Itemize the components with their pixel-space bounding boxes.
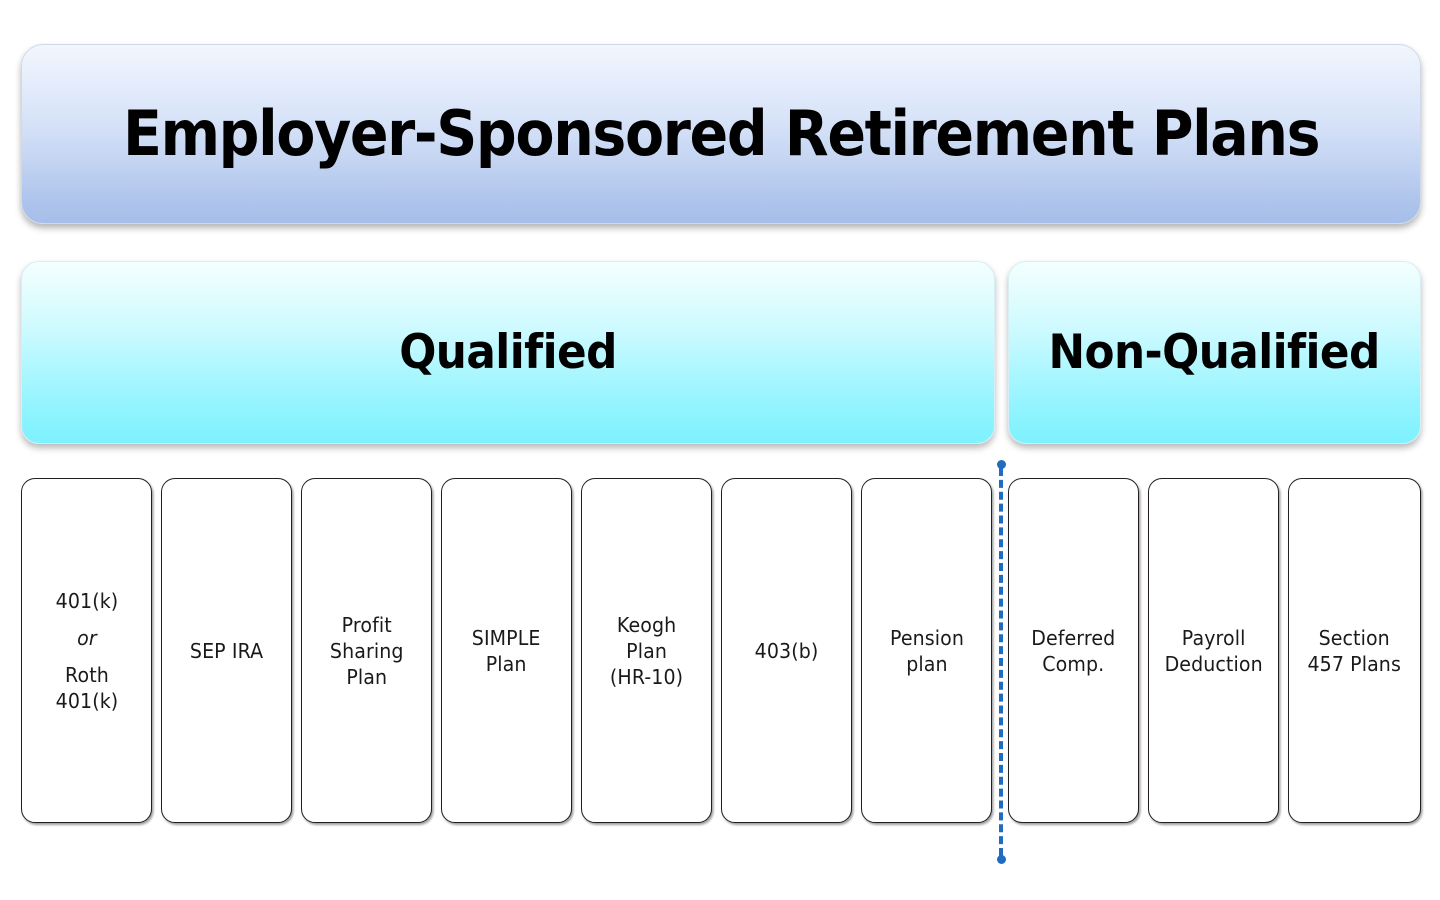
plan-label: Section457 Plans <box>1304 625 1405 677</box>
plan-label: SIMPLEPlan <box>468 625 544 677</box>
plan-label-line: Roth <box>55 662 118 688</box>
plan-label-line: Deferred <box>1031 625 1115 651</box>
plan-pension[interactable]: Pensionplan <box>861 478 992 823</box>
plan-keogh[interactable]: KeoghPlan(HR-10) <box>581 478 712 823</box>
plan-label-spacer <box>55 614 118 625</box>
plan-label-line: 401(k) <box>55 588 118 614</box>
plan-profit-sharing[interactable]: ProfitSharingPlan <box>301 478 432 823</box>
plan-label-line: Plan <box>610 638 683 664</box>
plan-label: ProfitSharingPlan <box>326 612 407 690</box>
plan-payroll-deduction[interactable]: PayrollDeduction <box>1148 478 1279 823</box>
plan-deferred-comp[interactable]: DeferredComp. <box>1008 478 1139 823</box>
plan-label-line: Payroll <box>1164 625 1262 651</box>
plan-label-line: Comp. <box>1031 651 1115 677</box>
plan-label-line: Sharing <box>330 638 404 664</box>
plan-label-line: SIMPLE <box>472 625 541 651</box>
page-title: Employer-Sponsored Retirement Plans <box>123 103 1319 165</box>
plan-label-line: Plan <box>472 651 541 677</box>
plan-sep-ira[interactable]: SEP IRA <box>161 478 292 823</box>
category-box-qualified: Qualified <box>21 261 995 444</box>
plan-label: PayrollDeduction <box>1161 625 1267 677</box>
plan-label-line: Deduction <box>1164 651 1262 677</box>
plan-label-line: Plan <box>330 664 404 690</box>
qualified-nonqualified-divider <box>997 460 1004 864</box>
plan-label-line: SEP IRA <box>190 638 263 664</box>
plan-label: 401(k)orRoth401(k) <box>51 588 121 714</box>
plan-label: DeferredComp. <box>1028 625 1120 677</box>
plan-label-line: 401(k) <box>55 688 118 714</box>
plan-label: KeoghPlan(HR-10) <box>606 612 687 690</box>
plan-label-line: Keogh <box>610 612 683 638</box>
plan-label-line: Profit <box>330 612 404 638</box>
plan-label-line: Section <box>1308 625 1401 651</box>
plan-label-line: or <box>55 625 118 651</box>
plan-label-spacer <box>55 651 118 662</box>
plan-401k-roth[interactable]: 401(k)orRoth401(k) <box>21 478 152 823</box>
plan-section-457[interactable]: Section457 Plans <box>1288 478 1421 823</box>
plan-boxes-row: 401(k)orRoth401(k)SEP IRAProfitSharingPl… <box>0 478 1440 823</box>
category-box-non-qualified: Non-Qualified <box>1008 261 1421 444</box>
divider-bottom-dot-icon <box>997 855 1006 864</box>
plan-label: SEP IRA <box>186 638 267 664</box>
plan-403b[interactable]: 403(b) <box>721 478 852 823</box>
plan-label-line: 403(b) <box>755 638 819 664</box>
plan-label-line: plan <box>889 651 963 677</box>
plan-label-line: 457 Plans <box>1308 651 1401 677</box>
category-label-qualified: Qualified <box>399 329 617 376</box>
plan-label-line: (HR-10) <box>610 664 683 690</box>
category-label-non-qualified: Non-Qualified <box>1049 329 1380 376</box>
plan-label: Pensionplan <box>886 625 968 677</box>
divider-dashed-line <box>999 468 1003 856</box>
plan-label-line: Pension <box>889 625 963 651</box>
diagram-title-banner: Employer-Sponsored Retirement Plans <box>21 44 1421 224</box>
plan-label: 403(b) <box>751 638 822 664</box>
plan-simple[interactable]: SIMPLEPlan <box>441 478 572 823</box>
